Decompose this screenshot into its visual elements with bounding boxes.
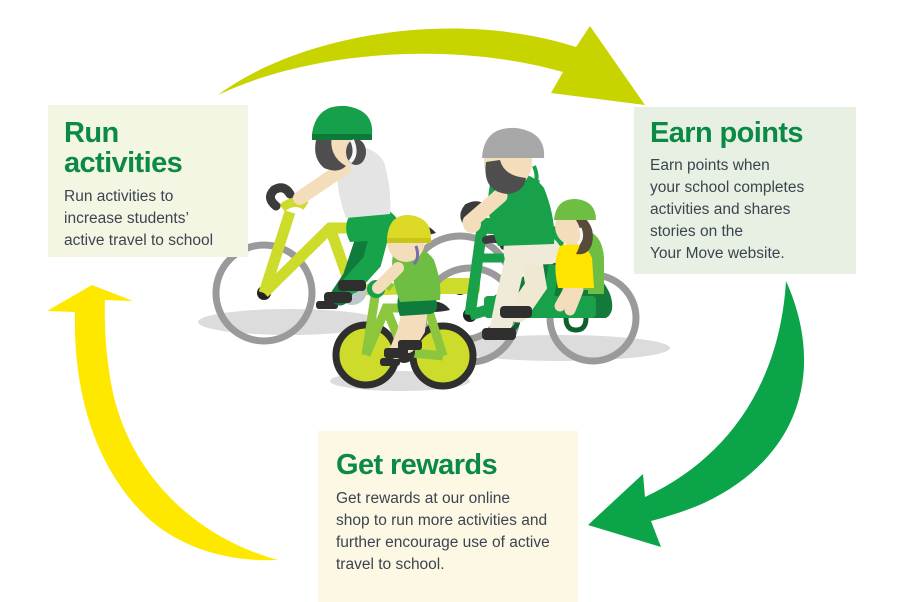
panel-run-body: Run activities to increase students’ act… [64,186,234,252]
figure-child-girl [554,199,604,310]
panel-rewards-body-line-4: travel to school. [336,554,566,576]
panel-earn-body-line-2: your school completes [650,177,844,199]
panel-earn-body: Earn points when your school completes a… [650,155,844,266]
panel-rewards-body-line-3: further encourage use of active [336,532,566,554]
panel-earn-heading: Earn points [650,119,844,149]
panel-run-body-line-1: Run activities to [64,186,234,208]
panel-rewards-heading: Get rewards [336,451,566,481]
panel-get-rewards: Get rewards Get rewards at our online sh… [318,431,578,602]
panel-run-heading: Run activities [64,119,234,179]
panel-run-body-line-3: active travel to school [64,230,234,252]
infographic-canvas: Run activities Run activities to increas… [0,0,902,602]
panel-rewards-body-line-2: shop to run more activities and [336,510,566,532]
panel-rewards-body-line-1: Get rewards at our online [336,488,566,510]
panel-rewards-body: Get rewards at our online shop to run mo… [336,488,566,577]
panel-earn-body-line-3: activities and shares [650,199,844,221]
panel-run-activities: Run activities Run activities to increas… [48,105,248,257]
panel-earn-points: Earn points Earn points when your school… [634,107,856,274]
panel-earn-body-line-4: stories on the [650,221,844,243]
panel-run-heading-line-1: Run [64,119,234,149]
panel-run-body-line-2: increase students’ [64,208,234,230]
panel-earn-body-line-1: Earn points when [650,155,844,177]
panel-run-heading-line-2: activities [64,149,234,179]
panel-earn-body-line-5: Your Move website. [650,243,844,265]
